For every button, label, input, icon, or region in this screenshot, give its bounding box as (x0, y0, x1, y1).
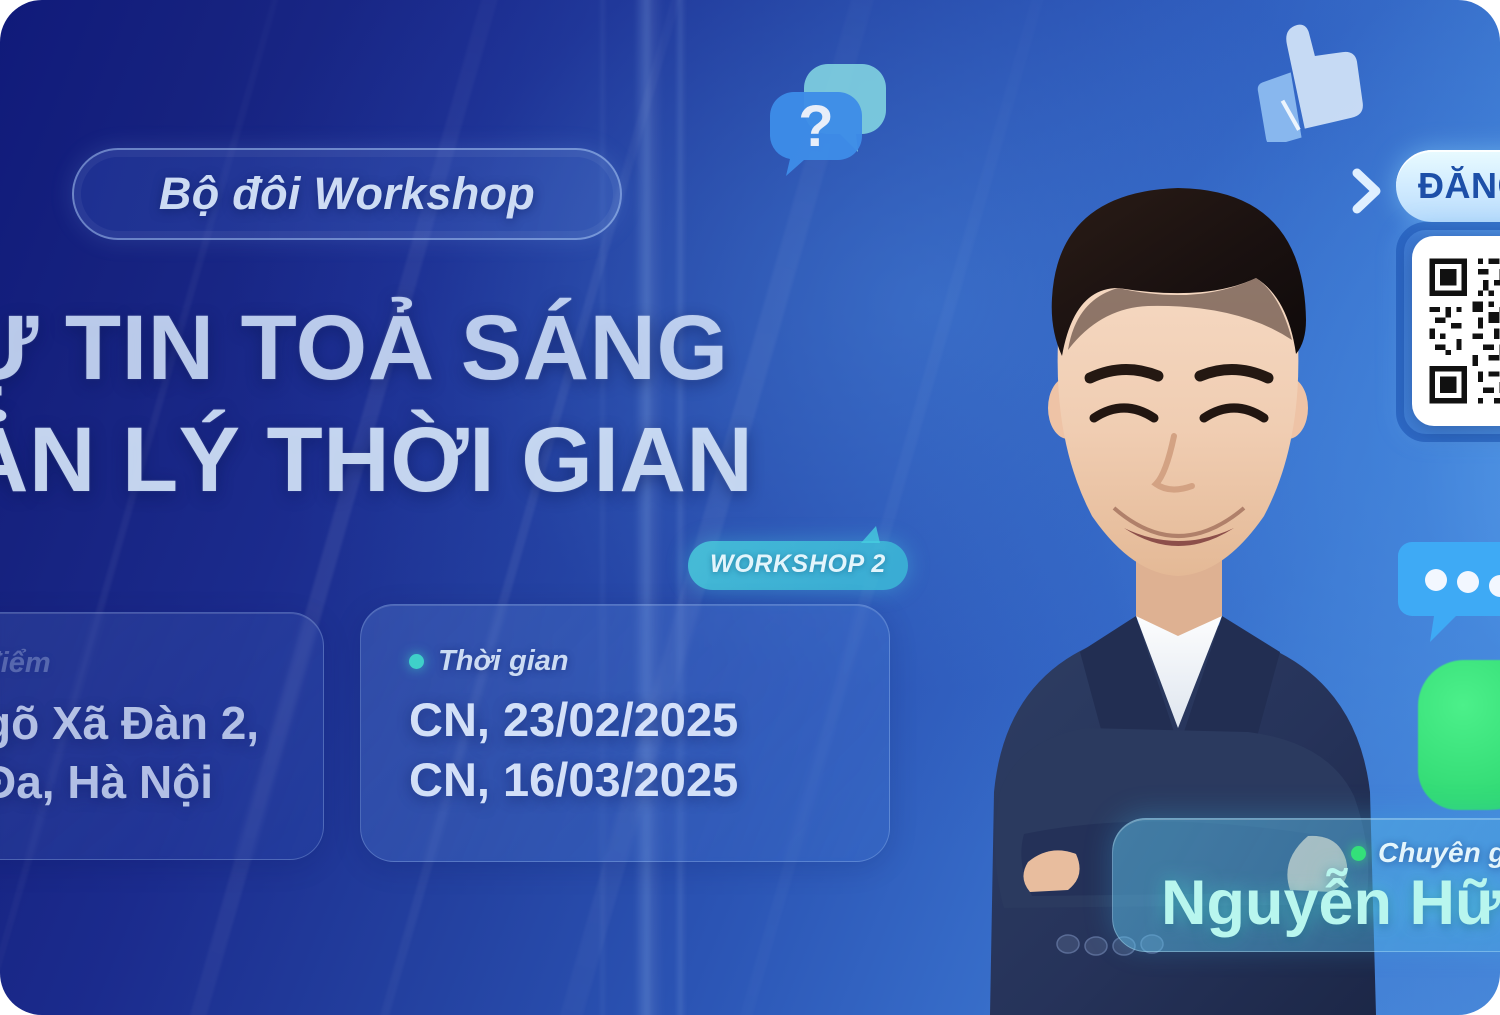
location-card-value-line-2: Đa, Hà Nội (0, 753, 259, 812)
event-banner: Bộ đôi Workshop Ự TIN TOẢ SÁNG ẢN LÝ THỜ… (0, 0, 1500, 1015)
speech-bubble-dots-icon (1398, 538, 1500, 650)
thumbs-up-icon (1248, 10, 1376, 142)
register-button[interactable]: ĐĂNG (1396, 150, 1500, 222)
svg-text:?: ? (798, 94, 833, 159)
workshop-pair-badge: Bộ đôi Workshop (72, 148, 622, 240)
time-card-value-line-2: CN, 16/03/2025 (409, 750, 738, 810)
bullet-dot-icon (1351, 846, 1366, 861)
location-card-header: điểm (0, 647, 259, 680)
location-card: điểm gõ Xã Đàn 2, Đa, Hà Nội (0, 612, 324, 860)
headline-line-2: ẢN LÝ THỜI GIAN (0, 404, 942, 516)
qr-code-icon (1424, 248, 1500, 414)
time-card: Thời gian CN, 23/02/2025 CN, 16/03/2025 (360, 604, 890, 862)
speaker-card: Chuyên g Nguyễn Hữ (1112, 818, 1500, 952)
qr-code-card[interactable] (1412, 236, 1500, 426)
bullet-dot-icon (409, 654, 424, 669)
time-card-value-line-1: CN, 23/02/2025 (409, 690, 738, 750)
speaker-card-header: Chuyên g (1351, 837, 1500, 869)
time-card-label: Thời gian (438, 645, 569, 678)
green-blob-shape (1418, 660, 1500, 810)
speaker-name: Nguyễn Hữ (1161, 867, 1500, 939)
page-title: Ự TIN TOẢ SÁNG ẢN LÝ THỜI GIAN (0, 292, 942, 516)
register-button-label: ĐĂNG (1418, 165, 1500, 207)
headline-line-1: Ự TIN TOẢ SÁNG (0, 292, 942, 404)
speaker-role-label: Chuyên g (1378, 837, 1500, 869)
location-card-label: điểm (0, 647, 51, 680)
location-card-value-line-1: gõ Xã Đàn 2, (0, 694, 259, 753)
time-card-header: Thời gian (409, 645, 738, 678)
speech-bubble-question-icon: ? (770, 58, 890, 178)
workshop-pair-badge-label: Bộ đôi Workshop (159, 168, 535, 220)
chevron-right-icon (1350, 168, 1384, 214)
